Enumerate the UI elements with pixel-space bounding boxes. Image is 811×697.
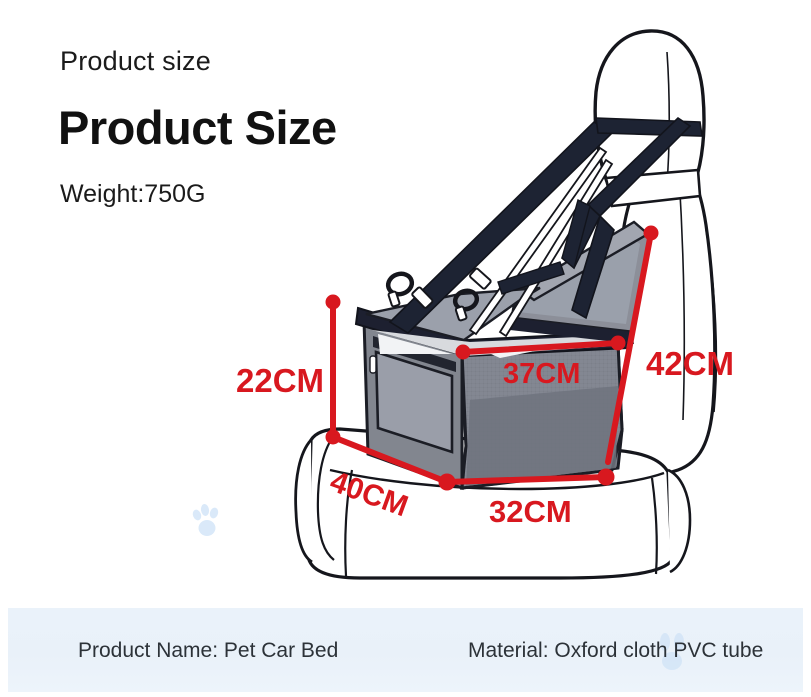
dim-dot-22-top bbox=[326, 295, 340, 309]
buckle-icon-2 bbox=[469, 268, 491, 290]
product-size-infographic: Product size Product Size Weight:750G bbox=[0, 0, 811, 697]
dimension-label-42cm: 42CM bbox=[646, 345, 734, 383]
dim-dot-37-left bbox=[456, 345, 470, 359]
footer-product-name: Product Name: Pet Car Bed bbox=[78, 639, 338, 663]
dim-dot-37-right bbox=[611, 336, 625, 350]
dim-dot-42-top bbox=[644, 226, 658, 240]
zipper-pull-icon bbox=[370, 356, 376, 373]
dimension-label-37cm: 37CM bbox=[503, 358, 580, 391]
dim-dot-32-right bbox=[598, 469, 614, 485]
pet-car-bed-diagram bbox=[0, 0, 811, 620]
paw-print-icon bbox=[190, 503, 224, 541]
cushion-left-bolster bbox=[296, 440, 312, 562]
dimension-label-22cm: 22CM bbox=[236, 362, 324, 400]
footer-spec-bar: Product Name: Pet Car Bed Material: Oxfo… bbox=[8, 608, 803, 692]
pet-bed-box bbox=[356, 222, 650, 488]
cushion-right-bolster bbox=[668, 470, 690, 572]
footer-material: Material: Oxford cloth PVC tube bbox=[468, 639, 763, 663]
dimension-label-32cm: 32CM bbox=[489, 494, 572, 530]
